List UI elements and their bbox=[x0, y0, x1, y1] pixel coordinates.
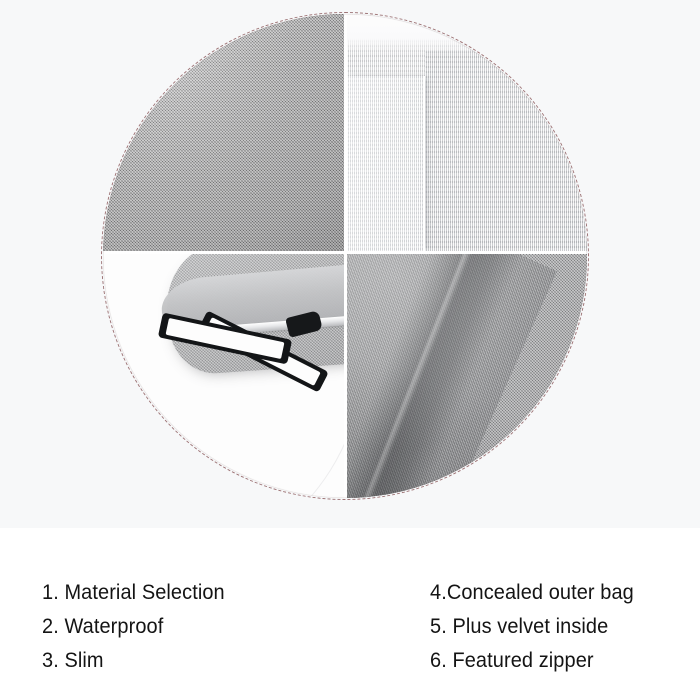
hero-image-panel bbox=[0, 0, 700, 528]
fleece-panel-right bbox=[425, 50, 587, 251]
fleece-panel-left bbox=[347, 76, 425, 251]
fabric-shading-overlay bbox=[103, 14, 344, 251]
fold-vignette-overlay bbox=[347, 254, 587, 498]
product-feature-page: 1. Material Selection 2. Waterproof 3. S… bbox=[0, 0, 700, 700]
caption-item-4: 4.Concealed outer bag bbox=[430, 576, 634, 610]
caption-item-5: 5. Plus velvet inside bbox=[430, 610, 634, 644]
caption-column-left: 1. Material Selection 2. Waterproof 3. S… bbox=[42, 576, 234, 678]
quadrant-zipper-detail bbox=[103, 254, 344, 498]
quadrant-concealed-pocket bbox=[347, 254, 587, 498]
caption-item-1: 1. Material Selection bbox=[42, 576, 225, 610]
caption-item-6: 6. Featured zipper bbox=[430, 644, 634, 678]
caption-column-right: 4.Concealed outer bag 5. Plus velvet ins… bbox=[430, 576, 645, 678]
fleece-top-highlight bbox=[347, 14, 587, 54]
caption-item-2: 2. Waterproof bbox=[42, 610, 225, 644]
circular-collage bbox=[103, 14, 587, 498]
quadrant-velvet-lining bbox=[347, 14, 587, 251]
caption-panel: 1. Material Selection 2. Waterproof 3. S… bbox=[0, 528, 700, 700]
caption-item-3: 3. Slim bbox=[42, 644, 225, 678]
quadrant-material-fabric bbox=[103, 14, 344, 251]
